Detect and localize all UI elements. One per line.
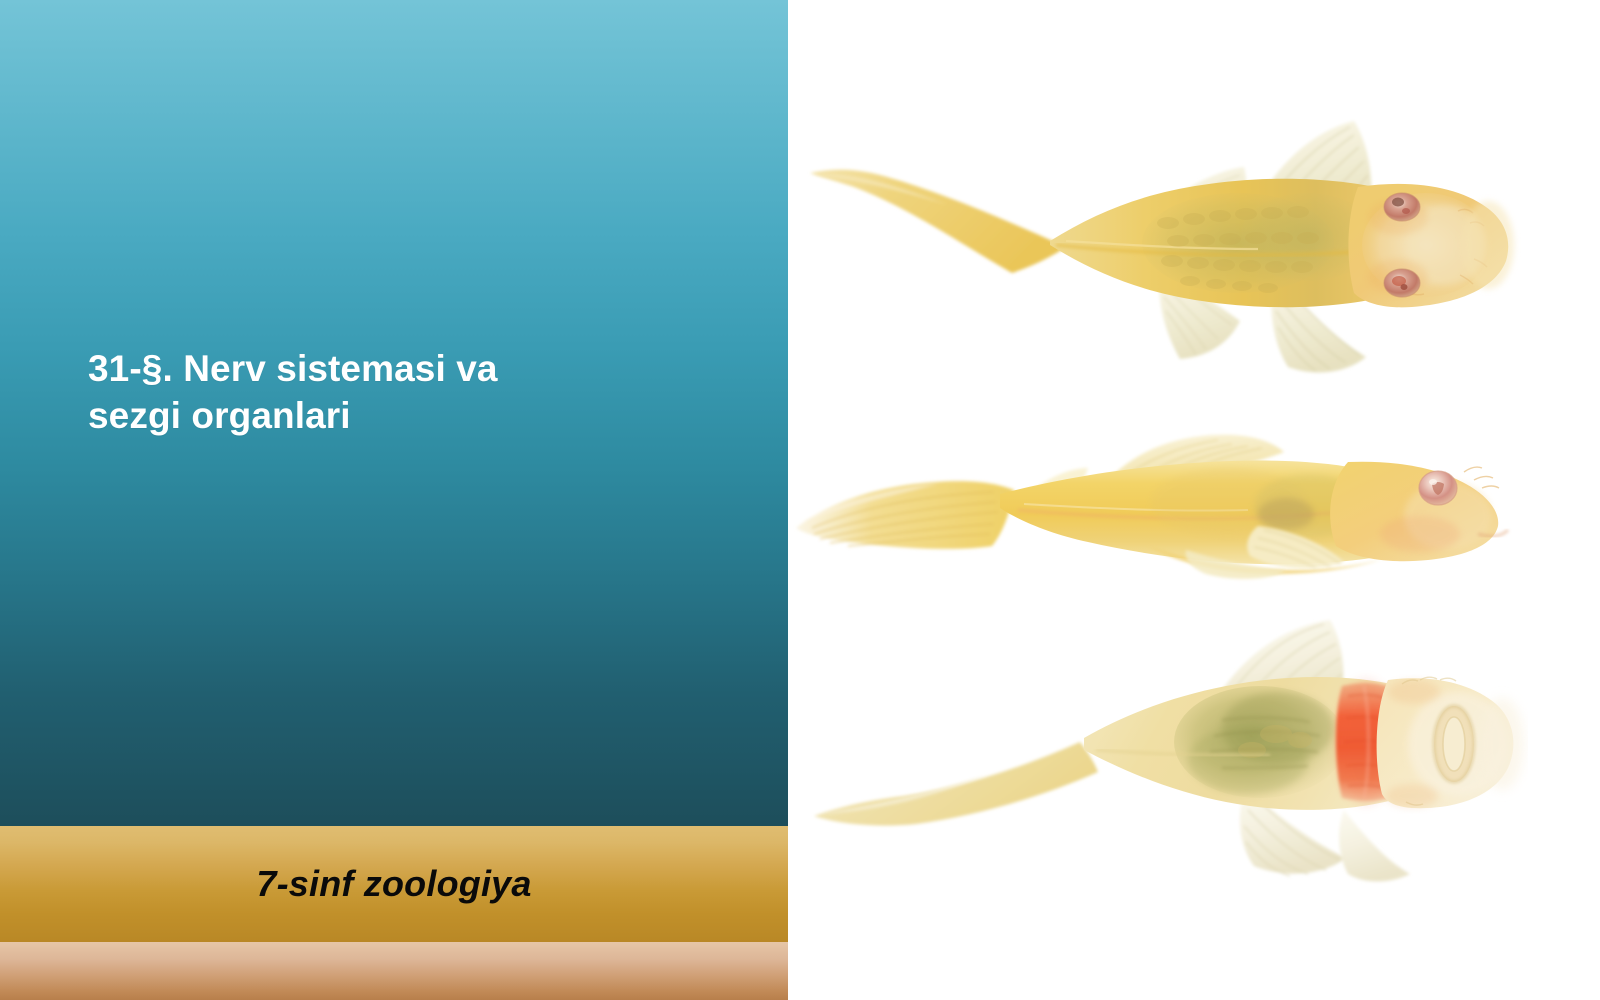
fish-lateral-view <box>788 410 1528 590</box>
photo-area <box>788 0 1600 1000</box>
fish-ventral-view <box>808 600 1528 885</box>
slide-root: 31-§. Nerv sistemasi va sezgi organlari … <box>0 0 1600 1000</box>
fish-sucker-mouth <box>1434 706 1474 782</box>
footer-gold-band: 7-sinf zoologiya <box>0 826 788 942</box>
footer-peach-band <box>0 942 788 1000</box>
fish-eye <box>1419 471 1457 505</box>
page-title: 31-§. Nerv sistemasi va sezgi organlari <box>88 345 688 440</box>
fish-dorsal-view <box>798 95 1528 385</box>
fish-eye-upper <box>1384 193 1420 221</box>
title-block: 31-§. Nerv sistemasi va sezgi organlari <box>88 345 688 440</box>
title-panel: 31-§. Nerv sistemasi va sezgi organlari <box>0 0 788 826</box>
fish-eye-lower <box>1384 269 1420 297</box>
footer-subject-label: 7-sinf zoologiya <box>256 863 531 905</box>
